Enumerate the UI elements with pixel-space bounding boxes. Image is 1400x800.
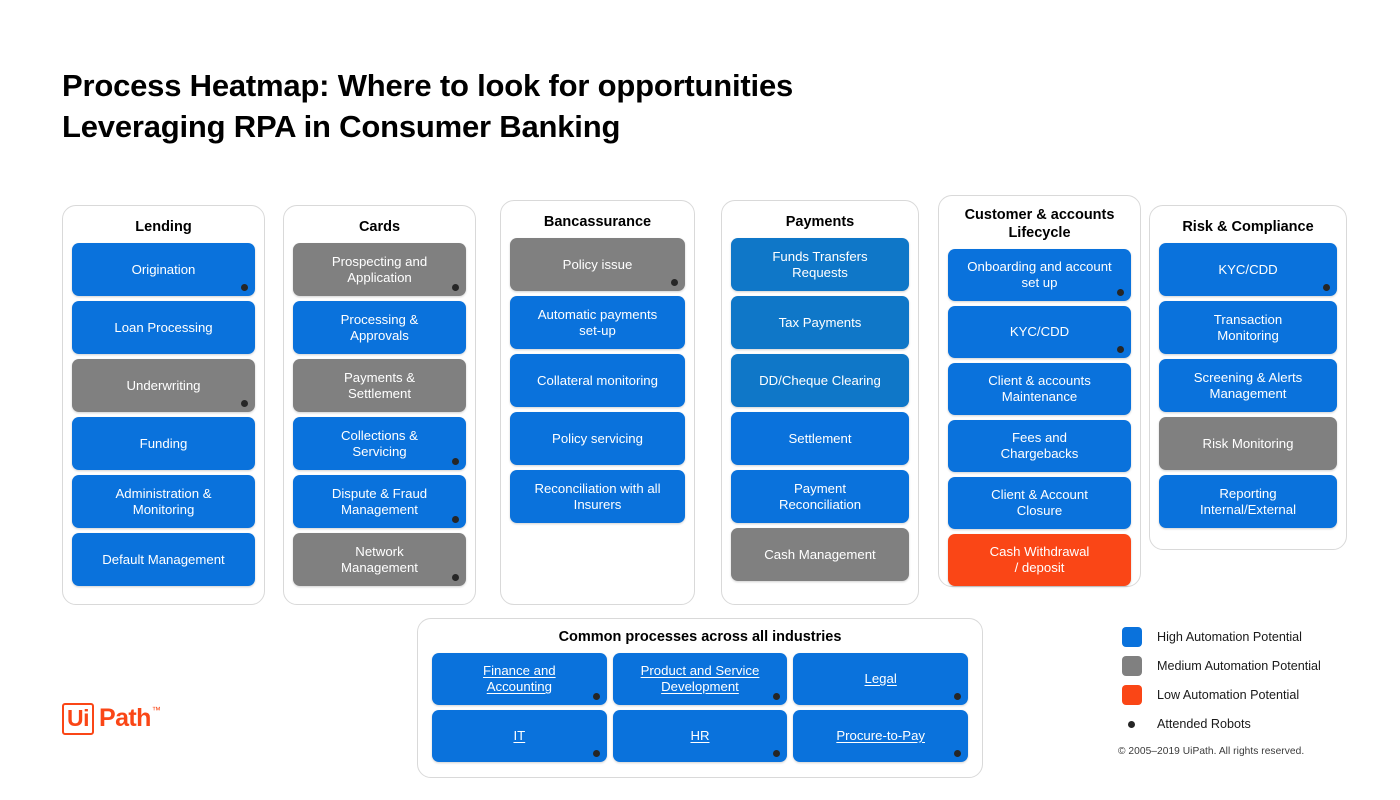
column-panel-payments: PaymentsFunds Transfers RequestsTax Paym… xyxy=(721,200,919,605)
process-card-label: Client & accounts Maintenance xyxy=(988,373,1091,405)
process-card-label: Collections & Servicing xyxy=(341,428,418,460)
process-card-cash-management[interactable]: Cash Management xyxy=(731,528,909,581)
process-card-label: Policy servicing xyxy=(552,431,643,447)
legend-row-high-automation-potential: High Automation Potential xyxy=(1118,622,1388,651)
legend-row-attended-robots: Attended Robots xyxy=(1118,709,1388,738)
process-card-label: Risk Monitoring xyxy=(1203,436,1294,452)
process-card-dd-cheque-clearing[interactable]: DD/Cheque Clearing xyxy=(731,354,909,407)
process-card-transaction-monitoring[interactable]: Transaction Monitoring xyxy=(1159,301,1337,354)
process-card-label: Policy issue xyxy=(563,257,633,273)
column-panel-bancassurance: BancassurancePolicy issueAutomatic payme… xyxy=(500,200,695,605)
legend-swatch-low xyxy=(1122,685,1142,705)
legend-label: Attended Robots xyxy=(1157,716,1251,732)
process-card-product-and-service-development[interactable]: Product and Service Development xyxy=(613,653,788,705)
legend-label: Low Automation Potential xyxy=(1157,687,1299,703)
process-card-label: KYC/CDD xyxy=(1010,324,1069,340)
column-items-cards: Prospecting and ApplicationProcessing & … xyxy=(284,243,475,600)
process-card-label: IT xyxy=(513,728,525,744)
legend-row-low-automation-potential: Low Automation Potential xyxy=(1118,680,1388,709)
process-card-label: Tax Payments xyxy=(779,315,862,331)
process-card-reconciliation-with-all-insurers[interactable]: Reconciliation with all Insurers xyxy=(510,470,685,523)
process-card-label: Payment Reconciliation xyxy=(779,481,861,513)
attended-robot-dot-icon xyxy=(1117,346,1124,353)
process-card-it[interactable]: IT xyxy=(432,710,607,762)
attended-robot-dot-icon xyxy=(241,400,248,407)
column-title-bancassurance: Bancassurance xyxy=(501,201,694,238)
process-card-label: Collateral monitoring xyxy=(537,373,658,389)
column-title-risk-compliance: Risk & Compliance xyxy=(1150,206,1346,243)
process-card-label: DD/Cheque Clearing xyxy=(759,373,881,389)
attended-robot-dot-icon xyxy=(954,693,961,700)
process-card-label: HR xyxy=(690,728,709,744)
legend-label: High Automation Potential xyxy=(1157,629,1302,645)
column-title-cards: Cards xyxy=(284,206,475,243)
attended-robot-dot-icon xyxy=(593,693,600,700)
process-card-loan-processing[interactable]: Loan Processing xyxy=(72,301,255,354)
process-card-cash-withdrawal-deposit[interactable]: Cash Withdrawal / deposit xyxy=(948,534,1131,586)
legend-row-medium-automation-potential: Medium Automation Potential xyxy=(1118,651,1388,680)
process-card-label: Prospecting and Application xyxy=(332,254,427,286)
attended-robot-dot-icon xyxy=(1122,714,1142,734)
column-panel-cards: CardsProspecting and ApplicationProcessi… xyxy=(283,205,476,605)
process-card-label: Underwriting xyxy=(126,378,200,394)
process-card-label: Settlement xyxy=(788,431,851,447)
process-card-procure-to-pay[interactable]: Procure-to-Pay xyxy=(793,710,968,762)
attended-robot-dot-icon xyxy=(954,750,961,757)
attended-robot-dot-icon xyxy=(773,693,780,700)
process-card-label: Funding xyxy=(140,436,188,452)
process-card-label: Default Management xyxy=(102,552,224,568)
process-card-label: Funds Transfers Requests xyxy=(772,249,867,281)
process-card-label: Client & Account Closure xyxy=(991,487,1088,519)
column-items-bancassurance: Policy issueAutomatic payments set-upCol… xyxy=(501,238,694,537)
process-card-label: Reporting Internal/External xyxy=(1200,486,1296,518)
process-card-label: KYC/CDD xyxy=(1218,262,1277,278)
common-processes-panel: Common processes across all industries F… xyxy=(417,618,983,778)
column-items-lending: OriginationLoan ProcessingUnderwritingFu… xyxy=(63,243,264,600)
common-processes-title: Common processes across all industries xyxy=(418,619,982,646)
legend-swatch-high xyxy=(1122,627,1142,647)
column-items-customer-accounts-lifecycle: Onboarding and account set upKYC/CDDClie… xyxy=(939,249,1140,600)
page-title: Process Heatmap: Where to look for oppor… xyxy=(62,65,1062,147)
process-card-kyc-cdd[interactable]: KYC/CDD xyxy=(948,306,1131,358)
process-card-default-management[interactable]: Default Management xyxy=(72,533,255,586)
process-card-label: Processing & Approvals xyxy=(341,312,419,344)
process-card-label: Payments & Settlement xyxy=(344,370,415,402)
process-card-finance-and-accounting[interactable]: Finance and Accounting xyxy=(432,653,607,705)
process-card-underwriting[interactable]: Underwriting xyxy=(72,359,255,412)
column-title-lending: Lending xyxy=(63,206,264,243)
column-title-customer-accounts-lifecycle: Customer & accounts Lifecycle xyxy=(939,196,1140,249)
process-card-policy-servicing[interactable]: Policy servicing xyxy=(510,412,685,465)
column-items-payments: Funds Transfers RequestsTax PaymentsDD/C… xyxy=(722,238,918,595)
column-panel-lending: LendingOriginationLoan ProcessingUnderwr… xyxy=(62,205,265,605)
process-card-kyc-cdd[interactable]: KYC/CDD xyxy=(1159,243,1337,296)
process-card-label: Onboarding and account set up xyxy=(967,259,1111,291)
uipath-logo: Ui Path ™ xyxy=(62,703,161,737)
process-card-client-accounts-maintenance[interactable]: Client & accounts Maintenance xyxy=(948,363,1131,415)
process-card-label: Loan Processing xyxy=(114,320,212,336)
process-card-reporting-internal-external[interactable]: Reporting Internal/External xyxy=(1159,475,1337,528)
process-card-screening-alerts-management[interactable]: Screening & Alerts Management xyxy=(1159,359,1337,412)
process-card-label: Fees and Chargebacks xyxy=(1001,430,1079,462)
attended-robot-dot-icon xyxy=(1323,284,1330,291)
attended-robot-dot-icon xyxy=(241,284,248,291)
process-card-policy-issue[interactable]: Policy issue xyxy=(510,238,685,291)
process-card-legal[interactable]: Legal xyxy=(793,653,968,705)
process-card-label: Screening & Alerts Management xyxy=(1194,370,1303,402)
logo-ui-mark: Ui xyxy=(62,703,94,735)
column-panel-customer-accounts-lifecycle: Customer & accounts LifecycleOnboarding … xyxy=(938,195,1141,587)
process-columns: LendingOriginationLoan ProcessingUnderwr… xyxy=(62,195,1347,610)
logo-wordmark: Path xyxy=(99,703,151,733)
process-card-label: Administration & Monitoring xyxy=(115,486,211,518)
process-card-label: Origination xyxy=(132,262,196,278)
process-card-label: Network Management xyxy=(341,544,418,576)
process-card-hr[interactable]: HR xyxy=(613,710,788,762)
attended-robot-dot-icon xyxy=(593,750,600,757)
process-card-automatic-payments-set-up[interactable]: Automatic payments set-up xyxy=(510,296,685,349)
process-card-settlement[interactable]: Settlement xyxy=(731,412,909,465)
process-card-client-account-closure[interactable]: Client & Account Closure xyxy=(948,477,1131,529)
process-card-collections-servicing[interactable]: Collections & Servicing xyxy=(293,417,466,470)
process-card-label: Automatic payments set-up xyxy=(538,307,657,339)
attended-robot-dot-icon xyxy=(1117,289,1124,296)
process-card-label: Procure-to-Pay xyxy=(836,728,925,744)
attended-robot-dot-icon xyxy=(452,516,459,523)
process-card-onboarding-and-account-set-up[interactable]: Onboarding and account set up xyxy=(948,249,1131,301)
legend-swatch-medium xyxy=(1122,656,1142,676)
process-card-label: Product and Service Development xyxy=(641,663,760,695)
process-card-label: Finance and Accounting xyxy=(483,663,556,695)
copyright-text: © 2005–2019 UiPath. All rights reserved. xyxy=(1118,746,1304,757)
common-processes-grid: Finance and AccountingProduct and Servic… xyxy=(418,646,982,772)
process-card-label: Legal xyxy=(865,671,897,687)
process-card-payment-reconciliation[interactable]: Payment Reconciliation xyxy=(731,470,909,523)
process-card-payments-settlement[interactable]: Payments & Settlement xyxy=(293,359,466,412)
attended-robot-dot-icon xyxy=(452,284,459,291)
process-card-administration-monitoring[interactable]: Administration & Monitoring xyxy=(72,475,255,528)
process-card-dispute-fraud-management[interactable]: Dispute & Fraud Management xyxy=(293,475,466,528)
process-card-collateral-monitoring[interactable]: Collateral monitoring xyxy=(510,354,685,407)
process-card-network-management[interactable]: Network Management xyxy=(293,533,466,586)
process-card-fees-and-chargebacks[interactable]: Fees and Chargebacks xyxy=(948,420,1131,472)
column-title-payments: Payments xyxy=(722,201,918,238)
process-card-label: Reconciliation with all Insurers xyxy=(534,481,660,513)
column-items-risk-compliance: KYC/CDDTransaction MonitoringScreening &… xyxy=(1150,243,1346,542)
process-card-label: Dispute & Fraud Management xyxy=(332,486,427,518)
logo-trademark-icon: ™ xyxy=(152,705,161,716)
attended-robot-dot-icon xyxy=(452,574,459,581)
process-card-processing-approvals[interactable]: Processing & Approvals xyxy=(293,301,466,354)
process-card-funding[interactable]: Funding xyxy=(72,417,255,470)
process-card-prospecting-and-application[interactable]: Prospecting and Application xyxy=(293,243,466,296)
attended-robot-dot-icon xyxy=(452,458,459,465)
legend-label: Medium Automation Potential xyxy=(1157,658,1321,674)
attended-robot-dot-icon xyxy=(671,279,678,286)
process-card-label: Cash Withdrawal / deposit xyxy=(990,544,1090,576)
process-card-funds-transfers-requests[interactable]: Funds Transfers Requests xyxy=(731,238,909,291)
attended-robot-dot-icon xyxy=(773,750,780,757)
column-panel-risk-compliance: Risk & ComplianceKYC/CDDTransaction Moni… xyxy=(1149,205,1347,550)
process-card-tax-payments[interactable]: Tax Payments xyxy=(731,296,909,349)
legend: High Automation PotentialMedium Automati… xyxy=(1118,622,1388,738)
process-card-risk-monitoring[interactable]: Risk Monitoring xyxy=(1159,417,1337,470)
process-card-label: Transaction Monitoring xyxy=(1214,312,1282,344)
process-card-origination[interactable]: Origination xyxy=(72,243,255,296)
process-card-label: Cash Management xyxy=(764,547,875,563)
